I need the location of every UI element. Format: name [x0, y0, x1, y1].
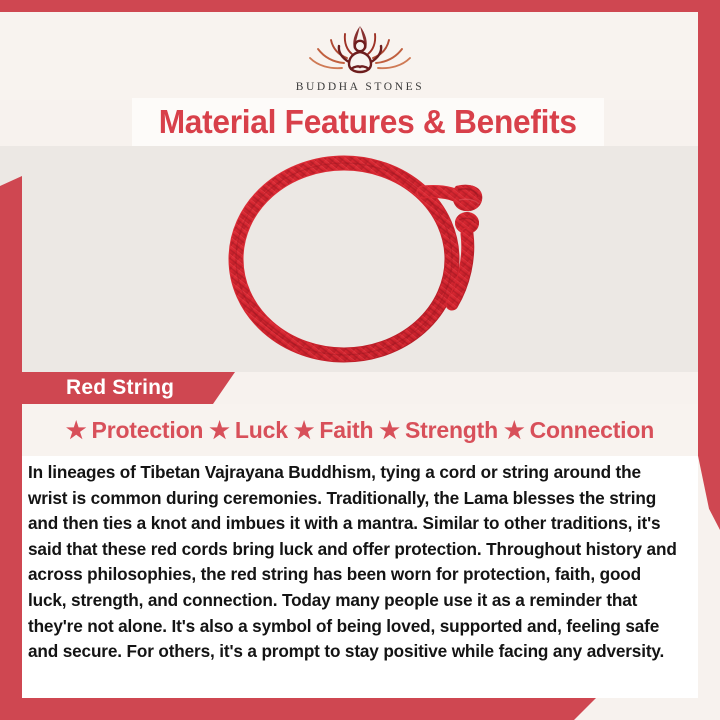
product-label: Red String [0, 376, 174, 400]
feature-list: ★ Protection ★ Luck ★ Faith ★ Strength ★… [0, 404, 720, 456]
star-icon: ★ [504, 419, 525, 442]
star-icon: ★ [209, 419, 230, 442]
brand-logo: BUDDHA STONES [296, 22, 424, 93]
description-text: In lineages of Tibetan Vajrayana Buddhis… [22, 456, 698, 665]
product-label-band: Red String [0, 372, 235, 404]
brand-header: BUDDHA STONES [0, 12, 720, 100]
frame-left-bar [0, 176, 22, 700]
feature-label: Strength [405, 417, 498, 444]
star-icon: ★ [294, 419, 315, 442]
feature-item-luck: ★ Luck [209, 417, 288, 444]
frame-top-bar [0, 0, 720, 12]
feature-label: Luck [235, 417, 288, 444]
frame-bottom-bar [0, 698, 596, 720]
product-image-stage [0, 146, 720, 372]
red-string-bracelet-image [218, 146, 502, 372]
description-card: In lineages of Tibetan Vajrayana Buddhis… [22, 456, 698, 698]
brand-name: BUDDHA STONES [296, 81, 424, 93]
star-icon: ★ [379, 419, 400, 442]
feature-label: Protection [92, 417, 204, 444]
feature-item-faith: ★ Faith [294, 417, 374, 444]
frame-right-bar [698, 0, 720, 530]
feature-item-connection: ★ Connection [504, 417, 654, 444]
page-title: Material Features & Benefits [159, 103, 577, 141]
feature-item-strength: ★ Strength [379, 417, 498, 444]
feature-label: Connection [530, 417, 655, 444]
poster-root: BUDDHA STONES Material Features & Benefi… [0, 0, 720, 720]
feature-label: Faith [319, 417, 373, 444]
title-banner: Material Features & Benefits [132, 98, 604, 146]
feature-item-protection: ★ Protection [66, 417, 203, 444]
lotus-meditation-icon [304, 22, 416, 80]
star-icon: ★ [66, 419, 87, 442]
